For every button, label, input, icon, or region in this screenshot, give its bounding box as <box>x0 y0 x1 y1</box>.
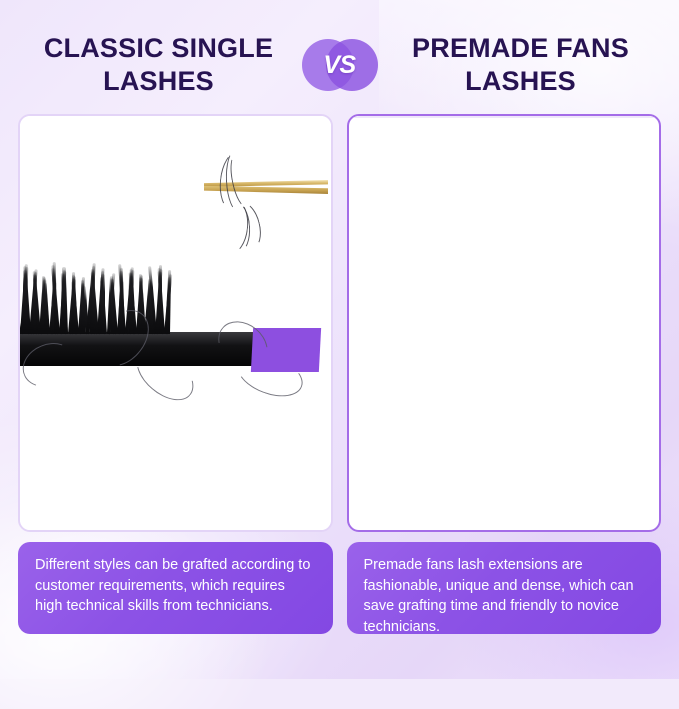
right-caption-text: Premade fans lash extensions are fashion… <box>364 555 645 637</box>
classic-single-lashes-panel <box>18 114 333 532</box>
vs-label: VS <box>323 51 355 80</box>
page-title-right: PREMADE FANS LASHES <box>378 32 664 99</box>
left-caption-text: Different styles can be grafted accordin… <box>35 555 316 617</box>
comparison-columns: Different styles can be grafted accordin… <box>0 114 679 634</box>
premade-fans-lashes-panel: YY LASHES <box>347 114 662 532</box>
right-column: YY LASHES <box>347 114 662 634</box>
classic-lash-illustration <box>20 116 331 530</box>
infographic-page: CLASSIC SINGLE LASHES VS PREMADE FANS LA… <box>0 0 679 679</box>
vs-badge: VS <box>302 35 378 95</box>
left-column: Different styles can be grafted accordin… <box>18 114 333 634</box>
header: CLASSIC SINGLE LASHES VS PREMADE FANS LA… <box>0 24 679 106</box>
tweezer-icon <box>198 168 328 204</box>
left-caption-card: Different styles can be grafted accordin… <box>18 542 333 634</box>
row-premade-fans-lashes: PREMADE FANS LASHES <box>349 117 660 118</box>
page-title-left: CLASSIC SINGLE LASHES <box>16 32 302 99</box>
right-caption-card: Premade fans lash extensions are fashion… <box>347 542 662 634</box>
